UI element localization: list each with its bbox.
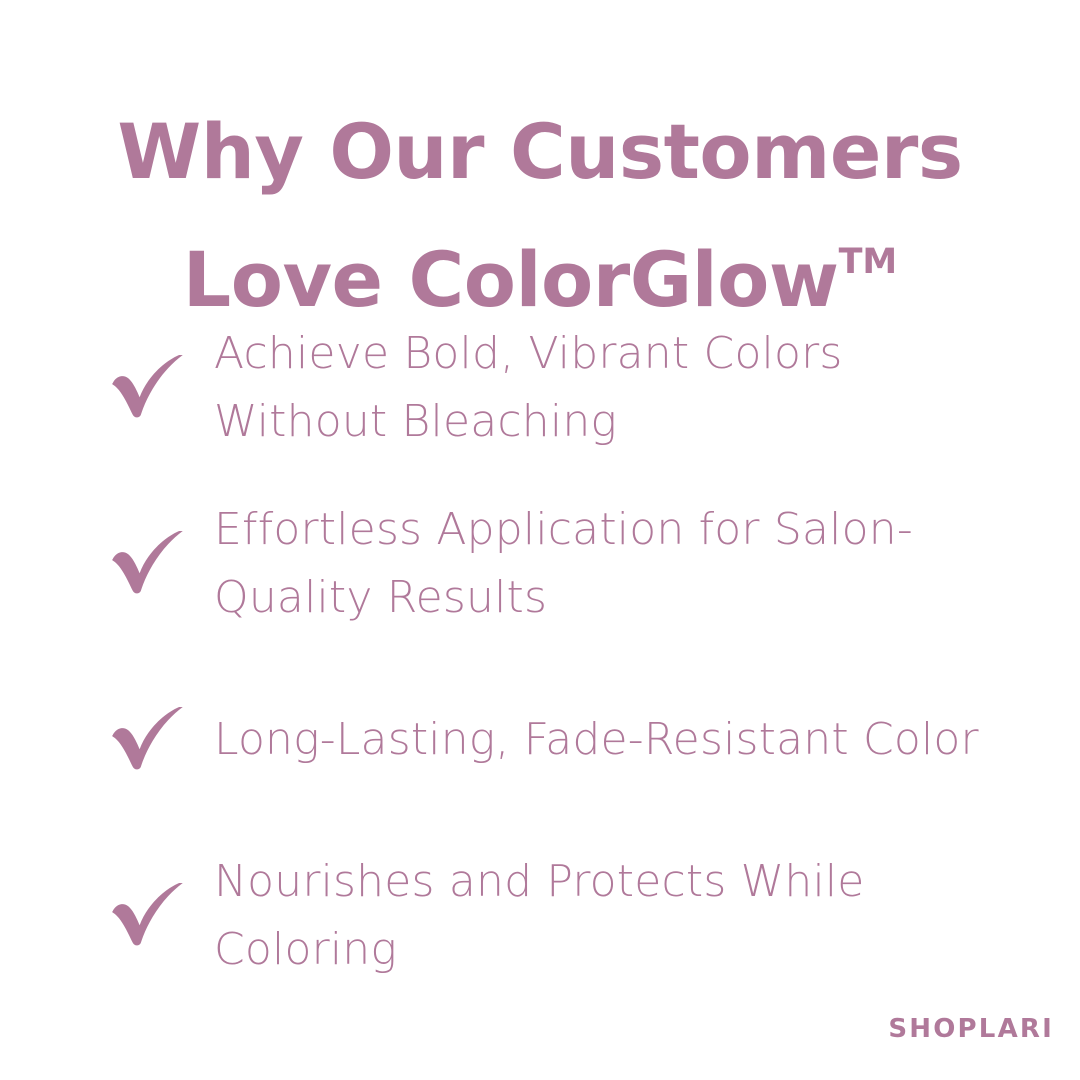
benefit-label: Long-Lasting, Fade-Resistant Color — [214, 706, 985, 774]
page-title-line-1: Why Our Customers — [60, 97, 1020, 207]
promo-card: Why Our Customers Love ColorGlowTM Achie… — [0, 0, 1080, 1080]
list-item: Long-Lasting, Fade-Resistant Color — [105, 670, 985, 810]
benefit-label: Achieve Bold, Vibrant Colors Without Ble… — [214, 320, 985, 456]
list-item: Effortless Application for Salon-Quality… — [105, 494, 985, 634]
page-title-product-name: Love ColorGlow — [183, 235, 839, 324]
benefit-label: Nourishes and Protects While Coloring — [214, 848, 985, 984]
page-title: Why Our Customers Love ColorGlowTM — [60, 97, 1020, 335]
trademark-symbol: TM — [839, 242, 898, 282]
check-mark-icon — [105, 531, 214, 597]
brand-logo: SHOPLARI — [888, 1016, 1054, 1042]
page-title-line-2: Love ColorGlowTM — [60, 207, 1020, 335]
check-mark-icon — [105, 883, 214, 949]
list-item: Achieve Bold, Vibrant Colors Without Ble… — [105, 318, 985, 458]
check-mark-icon — [105, 355, 214, 421]
list-item: Nourishes and Protects While Coloring — [105, 846, 985, 986]
benefit-label: Effortless Application for Salon-Quality… — [214, 496, 985, 632]
benefits-list: Achieve Bold, Vibrant Colors Without Ble… — [105, 318, 985, 986]
check-mark-icon — [105, 707, 214, 773]
